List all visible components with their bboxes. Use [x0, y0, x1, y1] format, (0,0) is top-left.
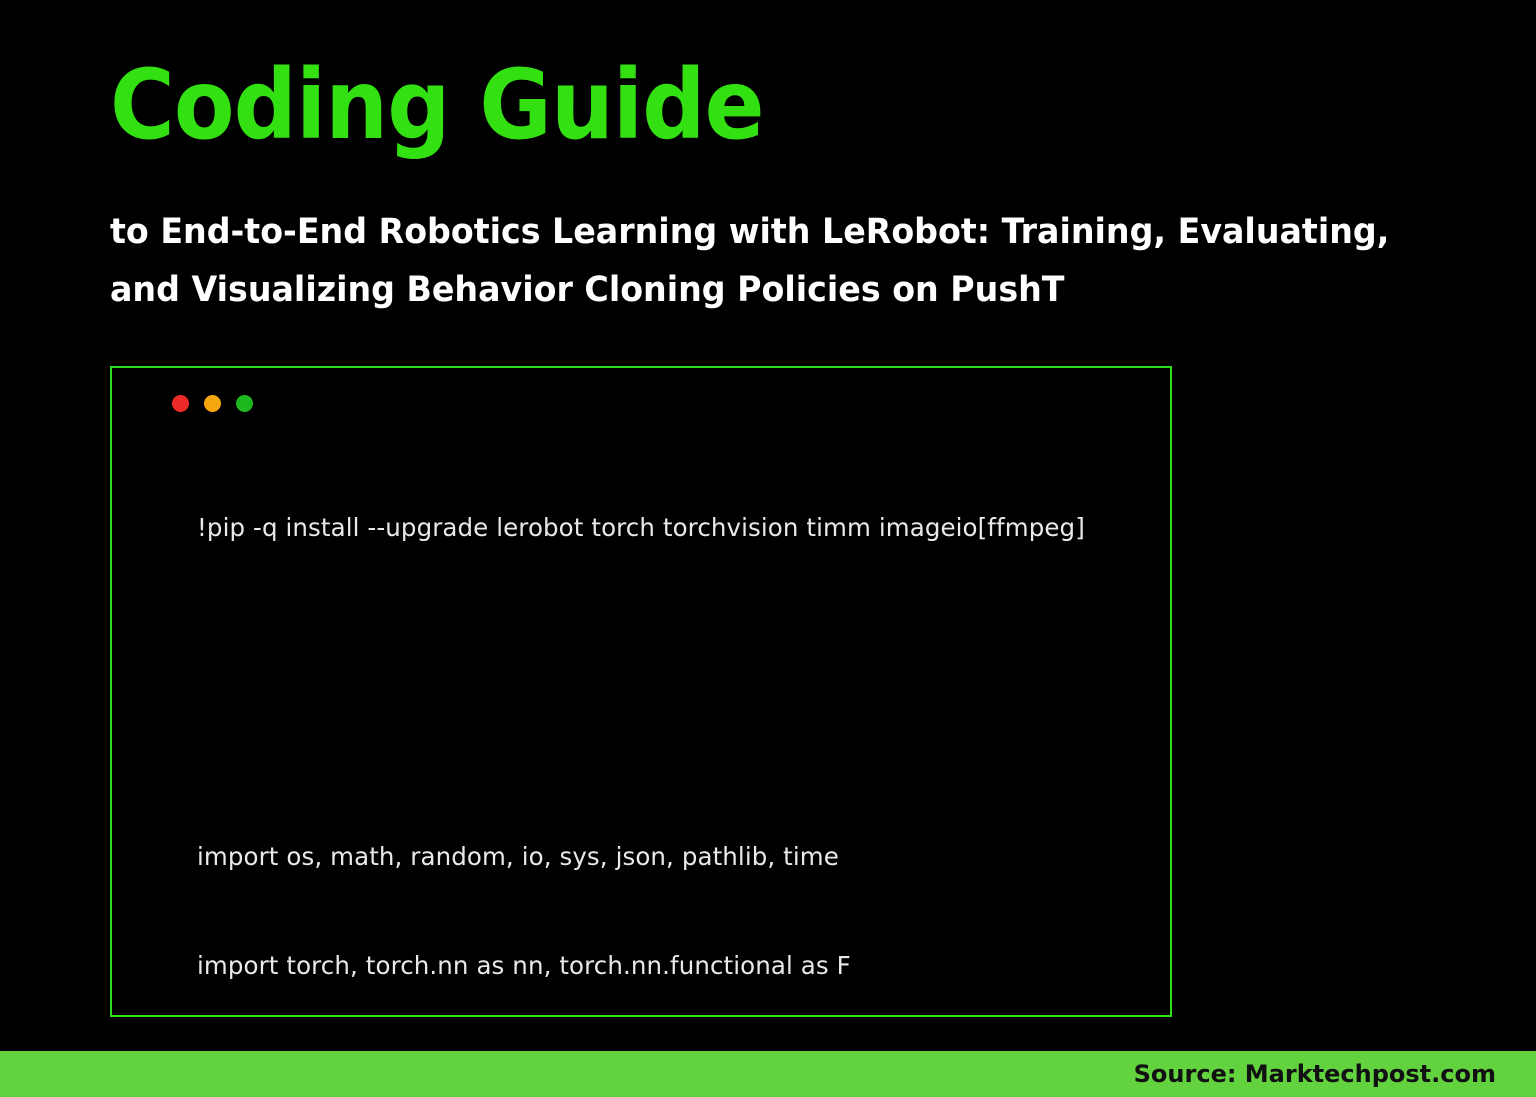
minimize-dot-icon[interactable] — [204, 395, 221, 412]
page-subtitle: to End-to-End Robotics Learning with LeR… — [110, 203, 1431, 319]
code-line: !pip -q install --upgrade lerobot torch … — [197, 510, 1158, 547]
code-window: !pip -q install --upgrade lerobot torch … — [110, 366, 1172, 1017]
code-block: !pip -q install --upgrade lerobot torch … — [197, 437, 1158, 1007]
subtitle-line-1: to End-to-End Robotics Learning with LeR… — [110, 203, 1431, 261]
window-titlebar — [172, 395, 253, 412]
page-title: Coding Guide — [110, 55, 764, 156]
code-line-blank — [197, 729, 1158, 766]
close-dot-icon[interactable] — [172, 395, 189, 412]
source-label: Source: Marktechpost.com — [1134, 1060, 1496, 1088]
code-line: import torch, torch.nn as nn, torch.nn.f… — [197, 948, 1158, 985]
code-line-blank — [197, 620, 1158, 657]
code-line: import os, math, random, io, sys, json, … — [197, 839, 1158, 876]
footer-bar: Source: Marktechpost.com — [0, 1051, 1536, 1097]
maximize-dot-icon[interactable] — [236, 395, 253, 412]
subtitle-line-2: and Visualizing Behavior Cloning Policie… — [110, 261, 1431, 319]
